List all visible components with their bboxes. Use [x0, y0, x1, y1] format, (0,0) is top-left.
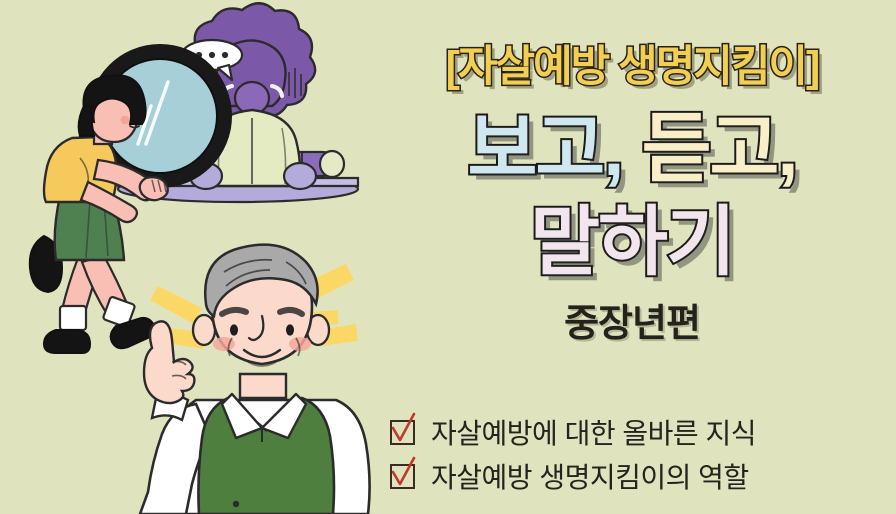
checkbox-checked-icon	[390, 420, 415, 445]
headline-word-hear: 듣고,	[642, 107, 797, 192]
headline-word-see: 보고,	[467, 107, 622, 192]
headline-bracket-text: [자살예방 생명지킴이]	[368, 46, 896, 89]
poster-root: [자살예방 생명지킴이] 보고, 듣고, 말하기 중장년편 자살예방에 대한 올…	[0, 0, 896, 514]
checklist-item-label: 자살예방 생명지킴이의 역할	[431, 456, 749, 496]
headline-line-2: 말하기	[368, 205, 896, 281]
illustration-artwork	[0, 0, 380, 514]
headline-word-speak: 말하기	[530, 200, 734, 285]
text-column: [자살예방 생명지킴이] 보고, 듣고, 말하기 중장년편 자살예방에 대한 올…	[368, 0, 896, 514]
checklist: 자살예방에 대한 올바른 지식 자살예방 생명지킴이의 역할	[390, 412, 896, 500]
checkbox-checked-icon	[390, 464, 415, 489]
checklist-item-label: 자살예방에 대한 올바른 지식	[431, 412, 756, 452]
headline-line-1: 보고, 듣고,	[368, 112, 896, 188]
headline-subtitle: 중장년편	[368, 305, 896, 343]
list-item: 자살예방에 대한 올바른 지식	[390, 412, 896, 452]
list-item: 자살예방 생명지킴이의 역할	[390, 456, 896, 496]
